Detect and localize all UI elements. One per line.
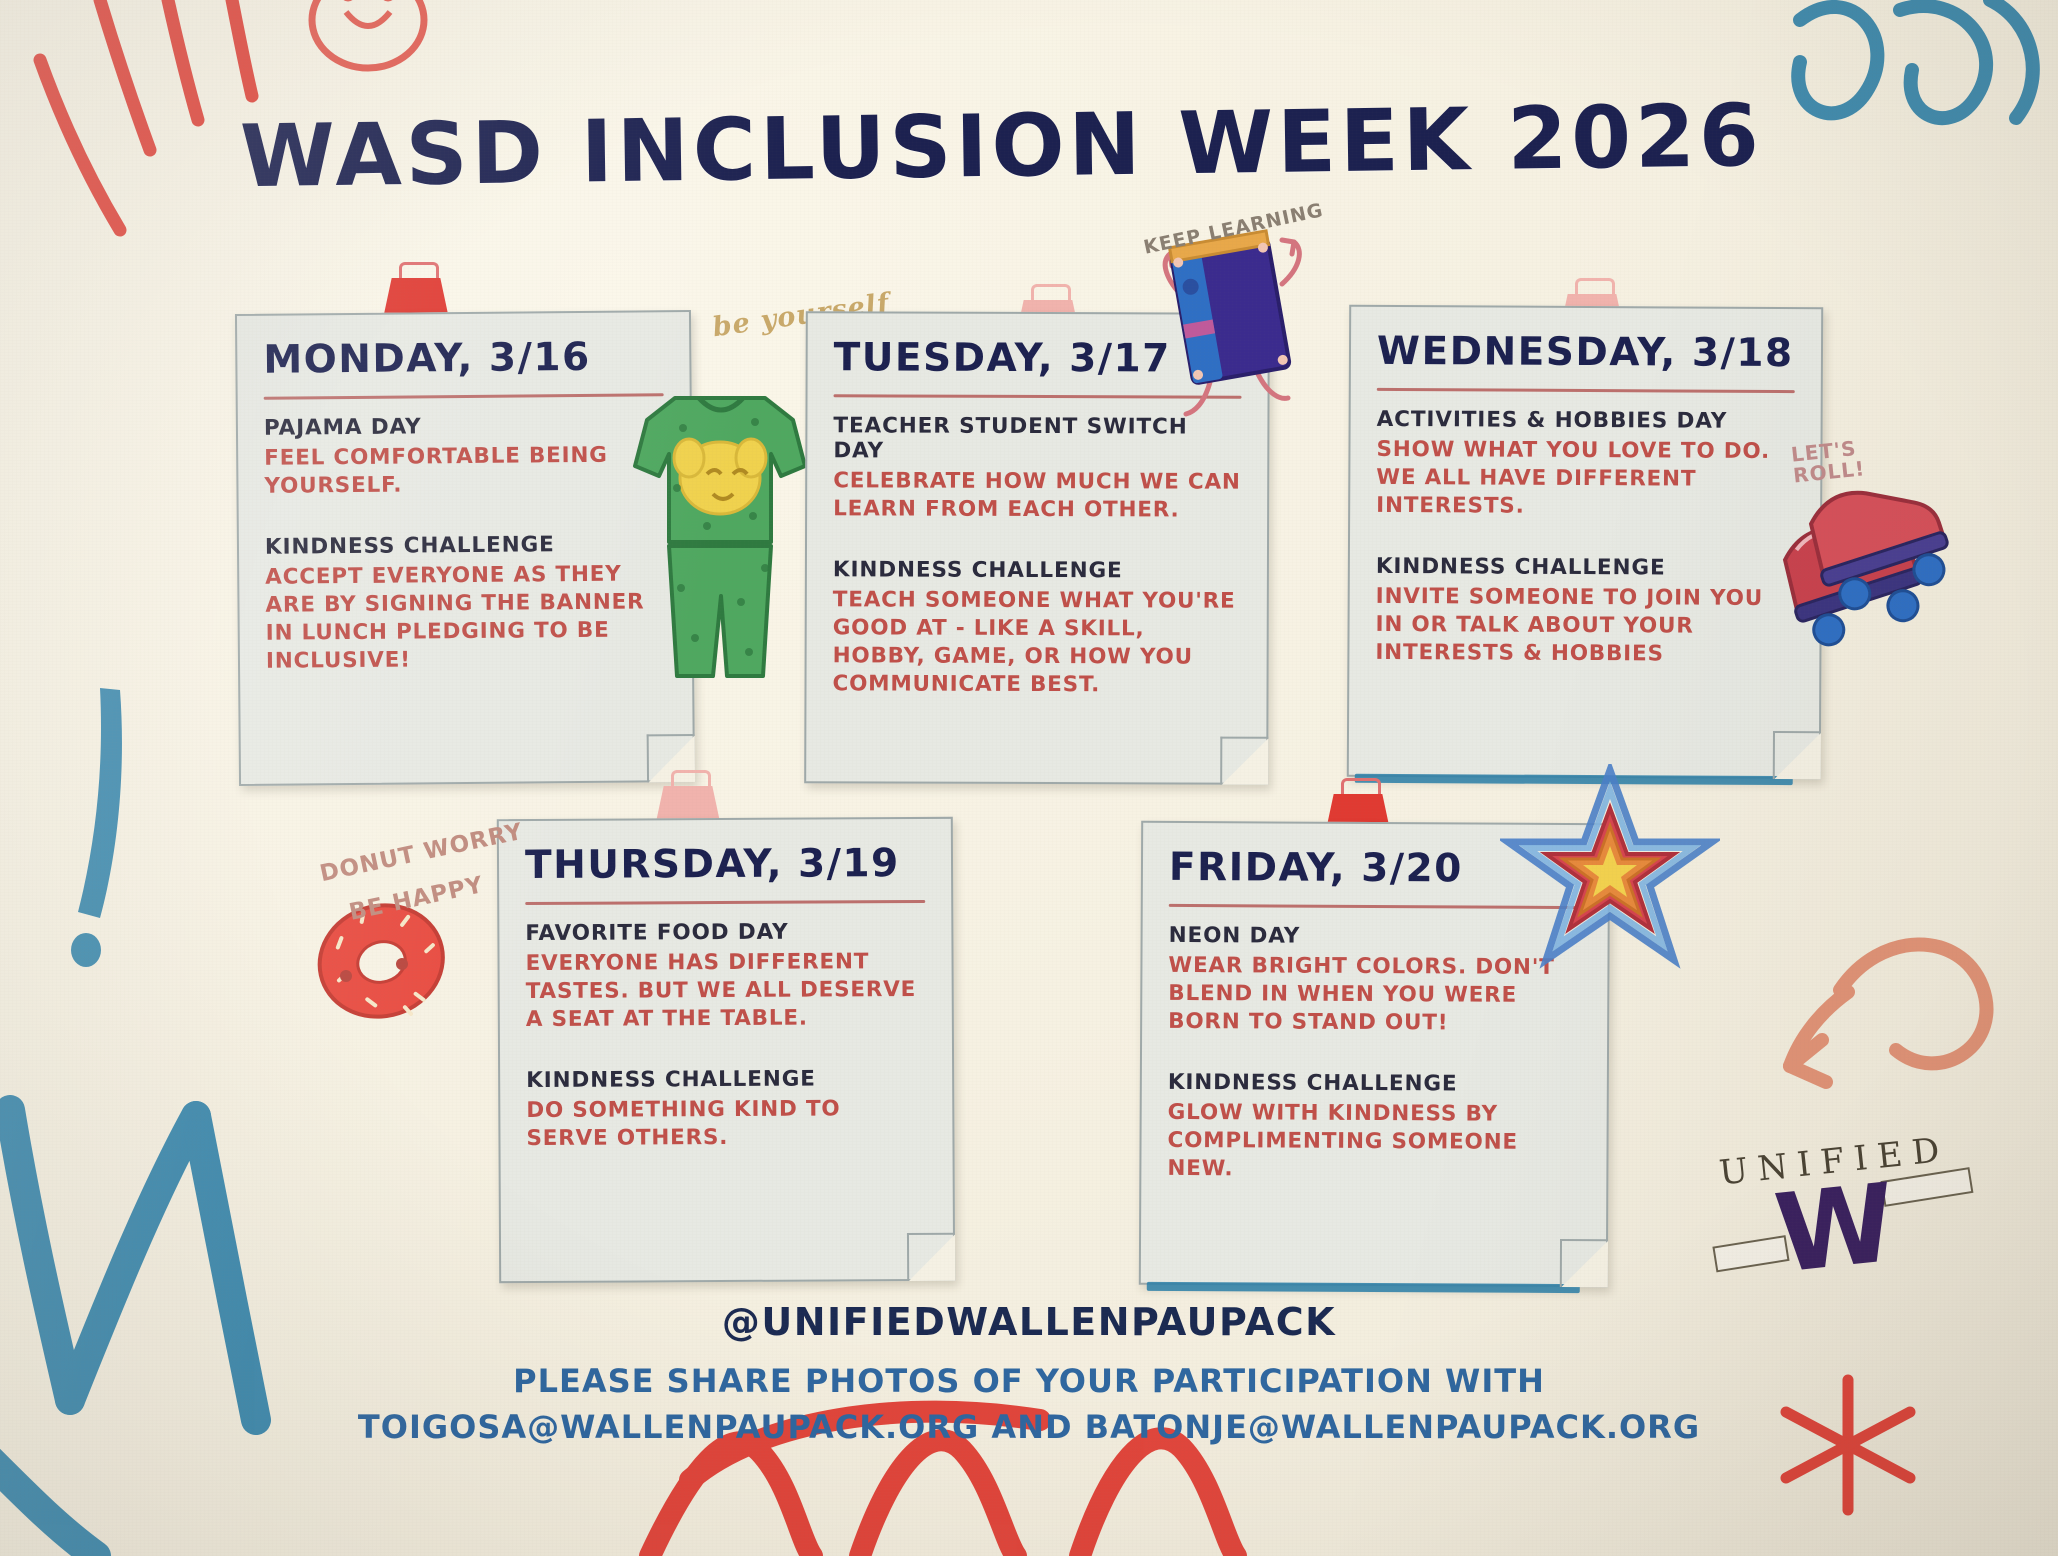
day-card-thursday[interactable]: THURSDAY, 3/19 FAVORITE FOOD DAY EVERYON… [497,817,955,1283]
footer-line-1: PLEASE SHARE PHOTOS OF YOUR PARTICIPATIO… [0,1358,2058,1404]
logo-w-mark: W [1771,1170,1901,1290]
divider-rule [1377,388,1795,393]
day-card-wednesday[interactable]: WEDNESDAY, 3/18 ACTIVITIES & HOBBIES DAY… [1347,305,1823,779]
divider-rule [264,393,664,399]
theme-body-wednesday: SHOW WHAT YOU LOVE TO DO. WE ALL HAVE DI… [1376,436,1794,522]
day-card-tuesday[interactable]: TUESDAY, 3/17 TEACHER STUDENT SWITCH DAY… [804,311,1270,785]
unified-logo: UNIFIED W [1709,1122,1977,1337]
theme-heading-monday: PAJAMA DAY [264,412,664,440]
day-title-friday: FRIDAY, 3/20 [1169,845,1582,892]
binder-clip-thursday [650,770,726,822]
page-fold-corner [907,1233,955,1281]
challenge-body-thursday: DO SOMETHING KIND TO SERVE OTHERS. [526,1095,926,1153]
theme-heading-wednesday: ACTIVITIES & HOBBIES DAY [1377,407,1795,434]
divider-rule [525,900,925,905]
challenge-heading-friday: KINDNESS CHALLENGE [1168,1070,1581,1097]
page-fold-corner [1773,731,1821,779]
day-title-wednesday: WEDNESDAY, 3/18 [1377,329,1795,376]
challenge-heading-monday: KINDNESS CHALLENGE [265,531,665,559]
day-title-monday: MONDAY, 3/16 [263,334,663,382]
theme-heading-friday: NEON DAY [1169,923,1582,950]
page-fold-corner [1220,737,1268,785]
day-title-thursday: THURSDAY, 3/19 [525,841,925,888]
footer-line-2[interactable]: TOIGOSA@WALLENPAUPACK.ORG AND BATONJE@WA… [0,1404,2058,1450]
theme-body-tuesday: CELEBRATE HOW MUCH WE CAN LEARN FROM EAC… [833,467,1241,524]
challenge-body-monday: ACCEPT EVERYONE AS THEY ARE BY SIGNING T… [265,560,666,675]
page-fold-corner [1560,1239,1608,1287]
theme-body-friday: WEAR BRIGHT COLORS. DON'T BLEND IN WHEN … [1168,952,1581,1038]
divider-rule [834,394,1242,398]
day-card-monday[interactable]: MONDAY, 3/16 PAJAMA DAY FEEL COMFORTABLE… [235,310,695,786]
challenge-body-tuesday: TEACH SOMEONE WHAT YOU'RE GOOD AT - LIKE… [832,586,1240,699]
day-title-tuesday: TUESDAY, 3/17 [834,335,1242,381]
challenge-body-wednesday: INVITE SOMEONE TO JOIN YOU IN OR TALK AB… [1375,583,1793,669]
binder-clip-monday [378,262,454,314]
challenge-heading-thursday: KINDNESS CHALLENGE [526,1066,926,1093]
theme-heading-thursday: FAVORITE FOOD DAY [525,919,925,946]
divider-rule [1169,904,1582,909]
theme-body-thursday: EVERYONE HAS DIFFERENT TASTES. BUT WE AL… [525,948,925,1034]
day-card-friday[interactable]: FRIDAY, 3/20 NEON DAY WEAR BRIGHT COLORS… [1139,821,1610,1287]
theme-body-monday: FEEL COMFORTABLE BEING YOURSELF. [264,441,664,500]
theme-heading-tuesday: TEACHER STUDENT SWITCH DAY [833,413,1241,464]
challenge-body-friday: GLOW WITH KINDNESS BY COMPLIMENTING SOME… [1167,1099,1580,1185]
challenge-heading-tuesday: KINDNESS CHALLENGE [833,557,1241,583]
challenge-heading-wednesday: KINDNESS CHALLENGE [1376,554,1794,581]
